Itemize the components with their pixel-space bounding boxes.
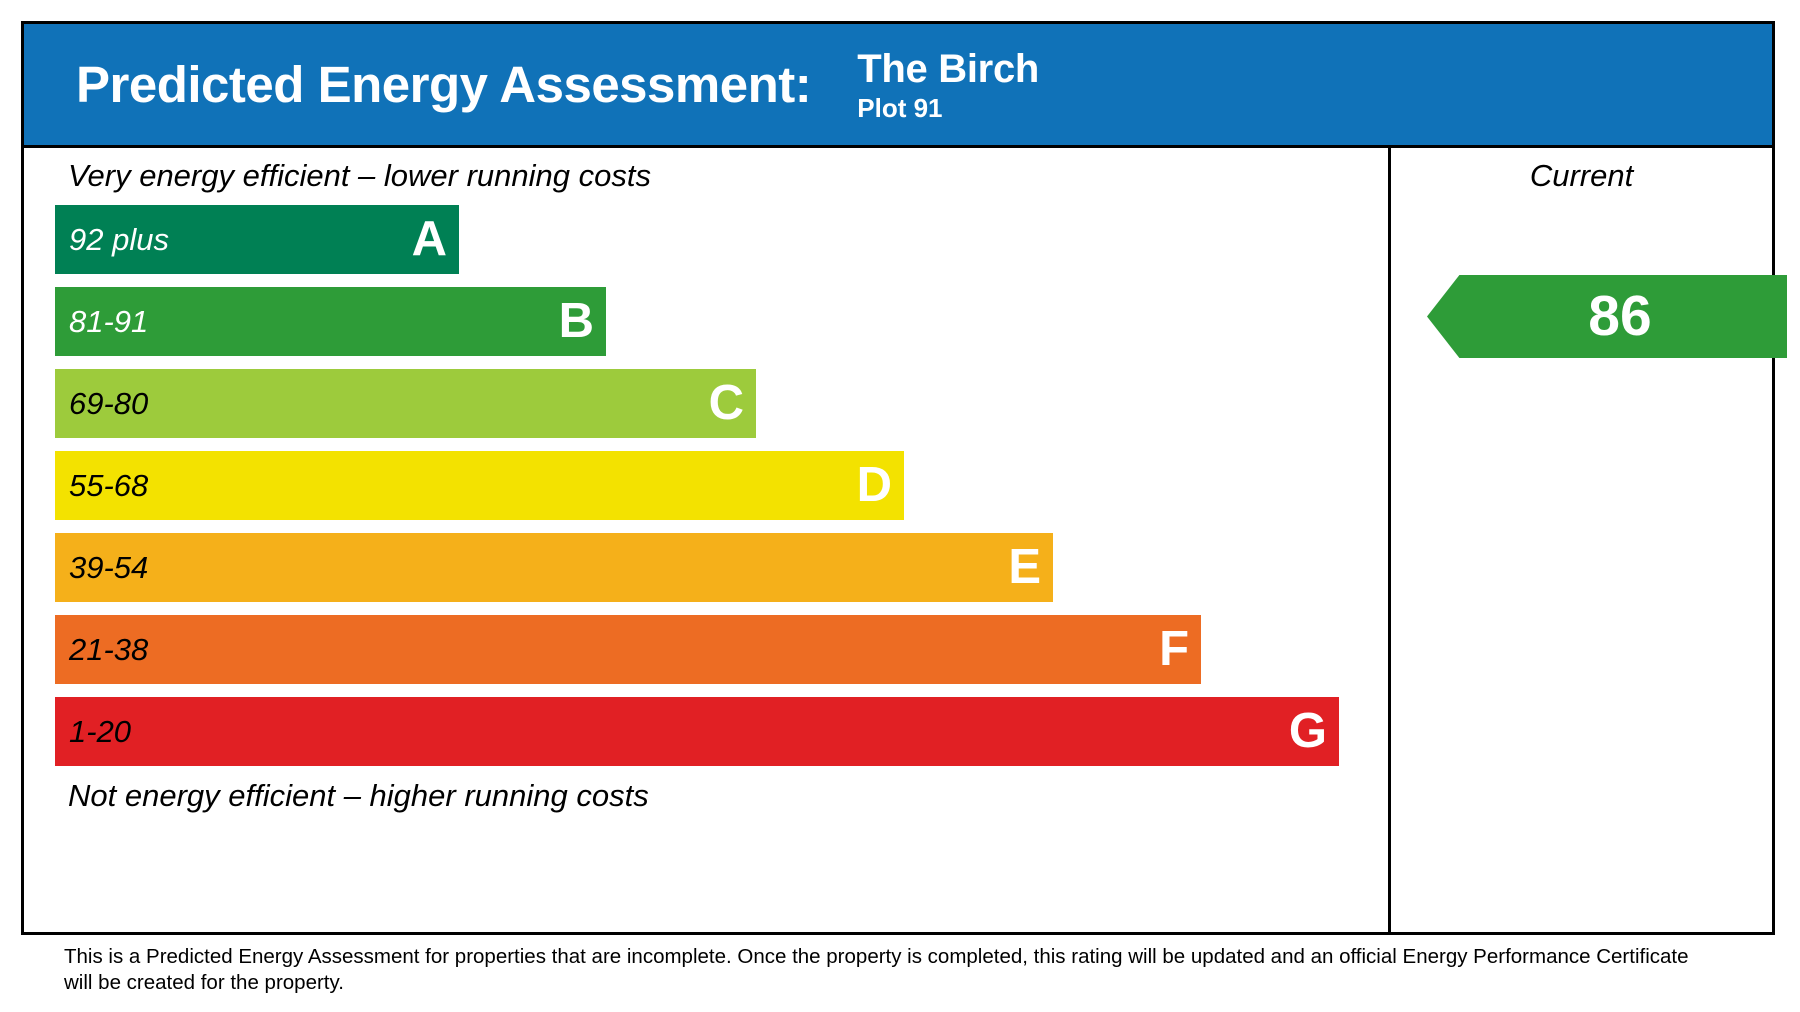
energy-band-f: 21-38F [55, 615, 1201, 684]
energy-bands-column: Very energy efficient – lower running co… [24, 148, 1388, 932]
energy-band-e: 39-54E [55, 533, 1053, 602]
energy-band-g: 1-20G [55, 697, 1339, 766]
band-range-label: 55-68 [69, 468, 148, 504]
band-range-label: 69-80 [69, 386, 148, 422]
band-range-label: 1-20 [69, 714, 131, 750]
energy-band-list: 92 plusA81-91B69-80C55-68D39-54E21-38F1-… [55, 205, 1339, 779]
page-title: Predicted Energy Assessment: [76, 55, 811, 114]
current-column-header: Current [1391, 158, 1772, 194]
current-rating-arrow: 86 [1427, 275, 1787, 358]
band-range-label: 92 plus [69, 222, 169, 258]
property-plot: Plot 91 [857, 95, 1039, 121]
band-letter-label: A [412, 215, 447, 264]
band-range-label: 39-54 [69, 550, 148, 586]
band-range-label: 81-91 [69, 304, 148, 340]
certificate-header: Predicted Energy Assessment: The Birch P… [24, 24, 1772, 148]
certificate-frame: Predicted Energy Assessment: The Birch P… [21, 21, 1775, 935]
footnote-text: This is a Predicted Energy Assessment fo… [64, 944, 1714, 996]
energy-band-b: 81-91B [55, 287, 606, 356]
caption-inefficient: Not energy efficient – higher running co… [68, 778, 649, 814]
energy-band-d: 55-68D [55, 451, 904, 520]
property-name: The Birch [857, 49, 1039, 89]
caption-efficient: Very energy efficient – lower running co… [68, 158, 651, 194]
band-letter-label: B [559, 297, 594, 346]
band-letter-label: C [709, 379, 744, 428]
band-letter-label: D [857, 461, 892, 510]
current-rating-column: Current 86 [1391, 148, 1772, 932]
band-letter-label: G [1289, 707, 1327, 756]
property-info: The Birch Plot 91 [857, 49, 1039, 121]
energy-band-a: 92 plusA [55, 205, 459, 274]
current-rating-value: 86 [1588, 288, 1651, 345]
band-letter-label: E [1008, 543, 1041, 592]
band-letter-label: F [1159, 625, 1189, 674]
energy-certificate: Predicted Energy Assessment: The Birch P… [0, 0, 1800, 1012]
energy-band-c: 69-80C [55, 369, 756, 438]
certificate-body: Very energy efficient – lower running co… [24, 148, 1772, 932]
band-range-label: 21-38 [69, 632, 148, 668]
